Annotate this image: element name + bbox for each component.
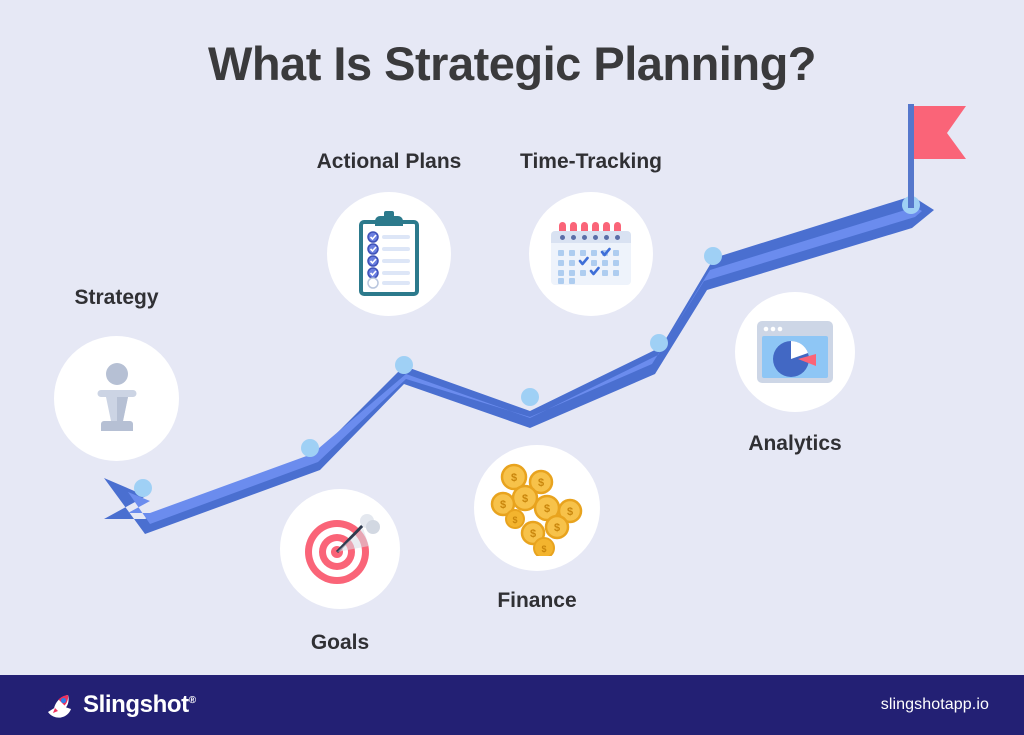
vertex-dot-goals xyxy=(301,439,319,457)
label-goals: Goals xyxy=(280,631,400,655)
node-finance[interactable]: $ $ $ $ $ $ $ $ $ $ xyxy=(474,445,600,571)
label-time-tracking: Time-Tracking xyxy=(511,150,671,174)
node-strategy[interactable] xyxy=(54,336,179,461)
svg-text:$: $ xyxy=(522,493,528,505)
label-strategy: Strategy xyxy=(54,286,179,310)
node-analytics[interactable] xyxy=(735,292,855,412)
vertex-dot-analytics xyxy=(704,247,722,265)
label-finance: Finance xyxy=(474,589,600,613)
label-analytics: Analytics xyxy=(725,432,865,456)
flag-icon xyxy=(914,106,966,159)
footer-bar: Slingshot® slingshotapp.io xyxy=(0,675,1024,735)
target-dart-icon xyxy=(280,489,400,609)
analytics-chart-icon xyxy=(735,292,855,412)
label-actional-plans: Actional Plans xyxy=(307,150,471,174)
svg-text:$: $ xyxy=(567,506,573,518)
node-actional-plans[interactable] xyxy=(327,192,451,316)
coins-icon: $ $ $ $ $ $ $ $ $ $ xyxy=(474,445,600,571)
brand-lockup[interactable]: Slingshot® xyxy=(44,690,196,720)
footer-url[interactable]: slingshotapp.io xyxy=(881,696,989,714)
svg-text:$: $ xyxy=(541,544,546,554)
svg-text:$: $ xyxy=(538,477,544,489)
chess-pawn-icon xyxy=(54,336,179,461)
infographic-canvas: What Is Strategic Planning? xyxy=(0,0,1024,735)
vertex-dot-strategy xyxy=(134,479,152,497)
svg-text:$: $ xyxy=(530,528,536,540)
svg-text:$: $ xyxy=(554,522,560,534)
svg-text:$: $ xyxy=(500,499,506,511)
node-time-tracking[interactable] xyxy=(529,192,653,316)
slingshot-rocket-logo xyxy=(44,690,74,720)
calendar-icon xyxy=(529,192,653,316)
node-goals[interactable] xyxy=(280,489,400,609)
brand-trademark: ® xyxy=(189,695,196,706)
vertex-dot-time-tracking xyxy=(650,334,668,352)
clipboard-checklist-icon xyxy=(327,192,451,316)
flag-pole xyxy=(908,104,914,208)
svg-text:$: $ xyxy=(544,503,550,515)
brand-name: Slingshot® xyxy=(83,691,196,719)
svg-text:$: $ xyxy=(512,515,517,525)
svg-text:$: $ xyxy=(511,472,517,484)
vertex-dot-actional-plans xyxy=(395,356,413,374)
vertex-dot-finance xyxy=(521,388,539,406)
